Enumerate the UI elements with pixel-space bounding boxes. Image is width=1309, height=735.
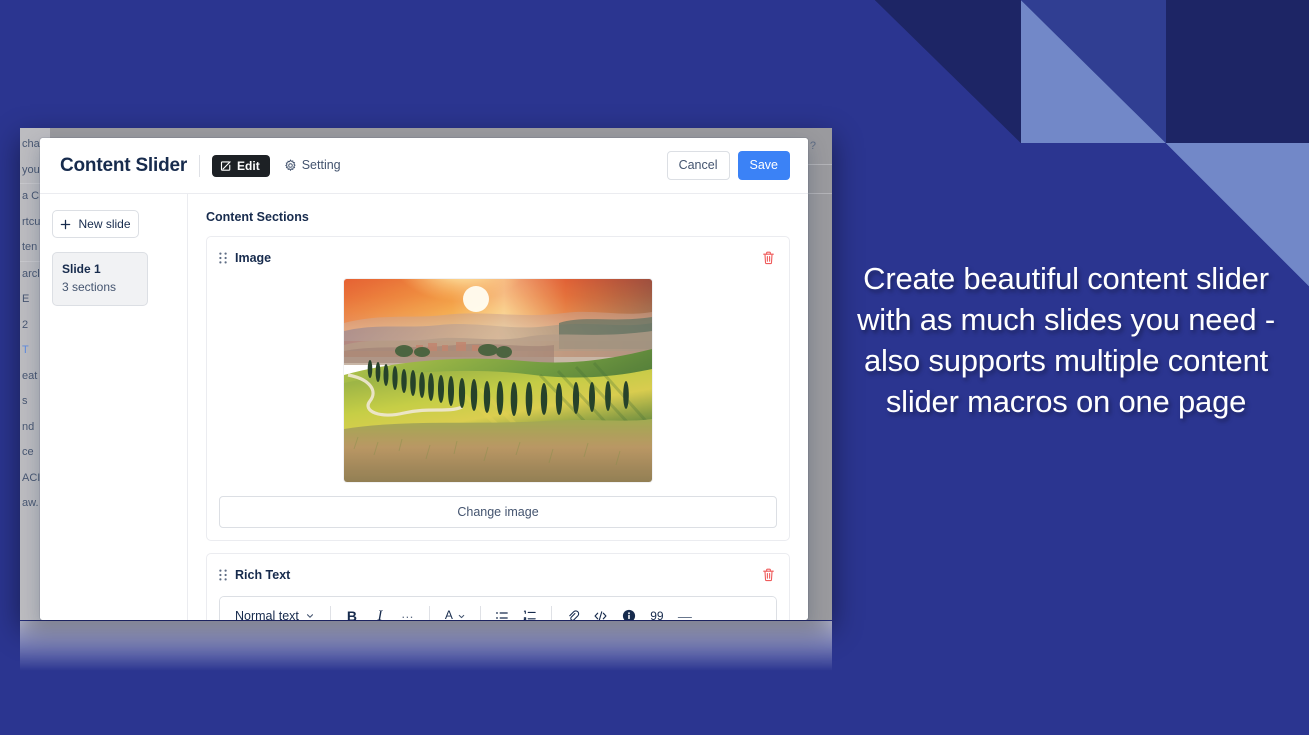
content-slider-dialog: Content Slider Edit — [40, 138, 808, 620]
bold-button[interactable]: B — [339, 603, 365, 620]
section-header: Rich Text — [219, 566, 777, 584]
trash-icon — [762, 253, 775, 268]
gear-icon — [284, 159, 297, 172]
italic-button[interactable]: I — [367, 603, 393, 620]
sidebar-item-slide-1[interactable]: Slide 1 3 sections — [52, 252, 148, 306]
divider-button[interactable]: — — [672, 603, 698, 620]
save-button[interactable]: Save — [738, 151, 791, 180]
tuscany-sunset-illustration — [344, 279, 652, 482]
delete-section-button[interactable] — [760, 566, 777, 584]
image-preview-wrap — [219, 279, 777, 482]
numbered-list-button[interactable] — [517, 603, 543, 620]
drag-handle-icon[interactable] — [219, 252, 227, 264]
decor-triangle-dark — [875, 0, 1021, 143]
slides-sidebar: New slide Slide 1 3 sections — [40, 194, 188, 620]
text-color-letter: A — [445, 609, 453, 621]
chevron-down-icon — [457, 612, 466, 621]
app-screenshot: cha you a C rtcu ten arcl E 2 T eat s nd… — [20, 128, 832, 620]
section-card-rich-text: Rich Text — [206, 553, 790, 620]
toolbar-divider — [330, 606, 331, 620]
setting-tab-button[interactable]: Setting — [276, 154, 349, 177]
edit-tab-button[interactable]: Edit — [212, 155, 270, 177]
section-label: Rich Text — [235, 568, 290, 582]
bullet-list-button[interactable] — [489, 603, 515, 620]
code-icon — [593, 609, 608, 620]
change-image-button[interactable]: Change image — [219, 496, 777, 528]
pencil-square-icon — [220, 160, 232, 172]
page-title: Content Slider — [60, 155, 187, 177]
edit-tab-label: Edit — [237, 160, 260, 172]
slide-section-count: 3 sections — [62, 279, 138, 296]
slide-name: Slide 1 — [62, 261, 138, 278]
setting-tab-label: Setting — [302, 159, 341, 172]
new-slide-label: New slide — [78, 217, 130, 231]
header-divider — [199, 155, 200, 177]
cancel-button[interactable]: Cancel — [667, 151, 730, 180]
slide-canvas: cha you a C rtcu ten arcl E 2 T eat s nd… — [0, 0, 1309, 735]
section-header: Image — [219, 249, 777, 267]
text-style-select[interactable]: Normal text — [228, 605, 322, 620]
screenshot-reflection — [20, 621, 832, 671]
text-color-button[interactable]: A — [438, 603, 472, 620]
bullet-list-icon — [495, 609, 509, 620]
dialog-header: Content Slider Edit — [40, 138, 808, 194]
slide-image-preview[interactable] — [344, 279, 652, 482]
link-button[interactable] — [560, 603, 586, 620]
decor-rect-dark-right — [1166, 0, 1309, 143]
promo-headline: Create beautiful content slider with as … — [856, 258, 1276, 422]
content-sections-panel: Content Sections Image — [188, 194, 808, 620]
drag-handle-icon[interactable] — [219, 569, 227, 581]
chevron-down-icon — [305, 611, 315, 620]
rich-text-toolbar: Normal text B I … — [220, 597, 776, 620]
toolbar-divider — [551, 606, 552, 620]
plus-icon — [60, 219, 71, 230]
new-slide-button[interactable]: New slide — [52, 210, 139, 238]
code-button[interactable] — [588, 603, 614, 620]
content-sections-heading: Content Sections — [206, 210, 790, 224]
question-mark-icon: ? — [810, 140, 816, 152]
decor-square-diagonal — [1021, 0, 1166, 143]
numbered-list-icon — [523, 609, 537, 620]
section-card-image: Image — [206, 236, 790, 541]
link-icon — [566, 609, 580, 620]
dialog-body: New slide Slide 1 3 sections Content Sec… — [40, 194, 808, 620]
more-formatting-button[interactable]: … — [395, 603, 421, 620]
rich-text-editor: Normal text B I … — [219, 596, 777, 620]
toolbar-divider — [480, 606, 481, 620]
quote-button[interactable]: 99 — [644, 603, 670, 620]
info-icon — [622, 609, 636, 620]
delete-section-button[interactable] — [760, 249, 777, 267]
info-panel-button[interactable] — [616, 603, 642, 620]
toolbar-divider — [429, 606, 430, 620]
trash-icon — [762, 570, 775, 585]
text-style-value: Normal text — [235, 609, 299, 620]
section-label: Image — [235, 251, 271, 265]
